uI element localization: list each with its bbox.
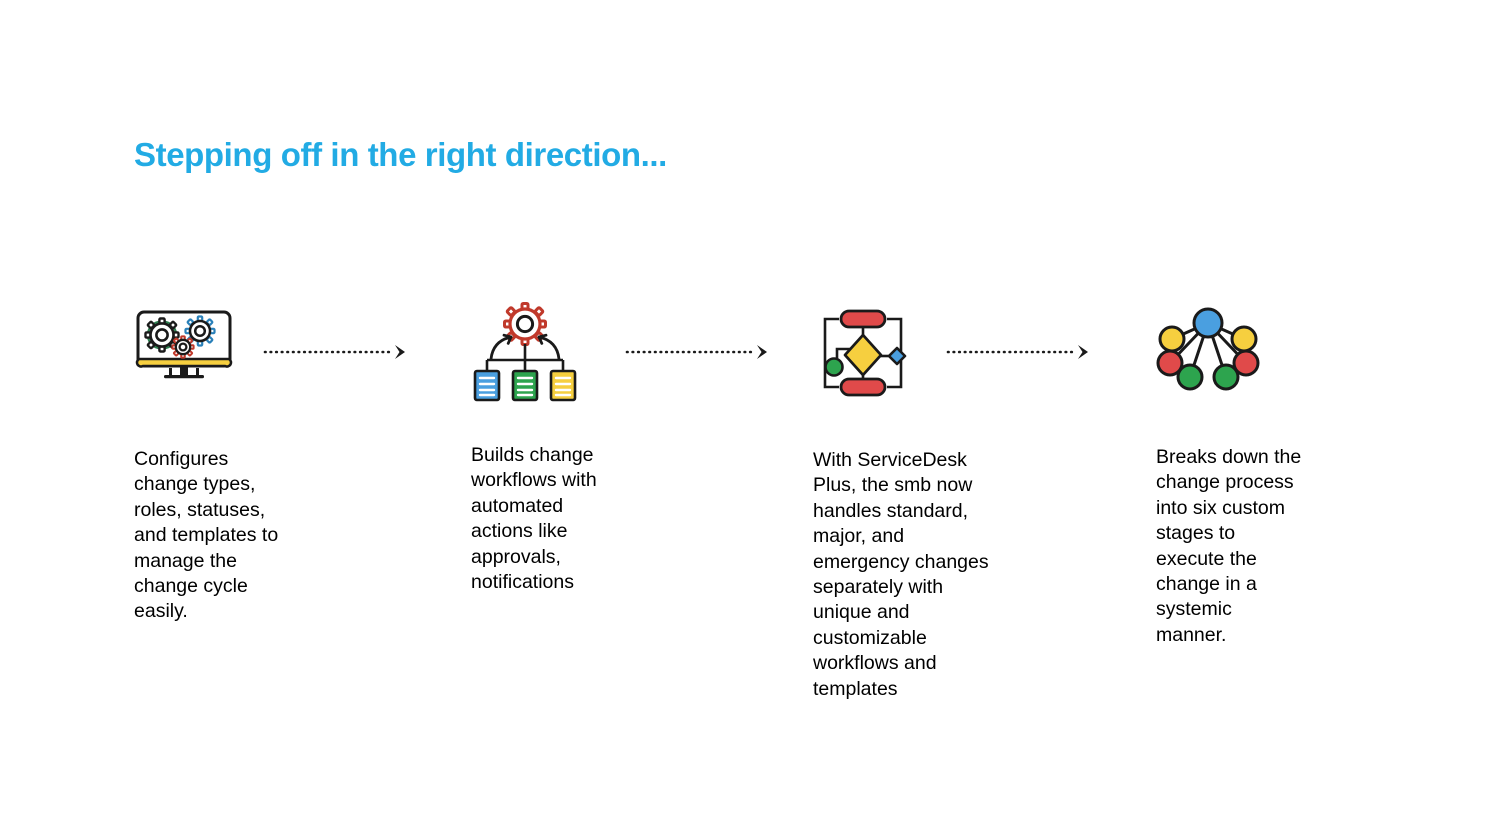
step-item-4: Breaks down the change process into six … — [1156, 295, 1356, 648]
steps-row: Configures change types, roles, statuses… — [0, 295, 1500, 765]
step-description: Breaks down the change process into six … — [1156, 445, 1306, 648]
step-description: With ServiceDesk Plus, the smb now handl… — [813, 448, 993, 702]
dotted-arrow-3 — [946, 341, 1094, 363]
page-title: Stepping off in the right direction... — [134, 136, 667, 174]
hub-spoke-network-icon — [1156, 295, 1356, 411]
step-description: Configures change types, roles, statuses… — [134, 447, 294, 625]
dotted-arrow-1 — [263, 341, 411, 363]
step-description: Builds change workflows with automated a… — [471, 443, 621, 595]
dotted-arrow-2 — [625, 341, 773, 363]
slide-root: Stepping off in the right direction... — [0, 0, 1500, 833]
